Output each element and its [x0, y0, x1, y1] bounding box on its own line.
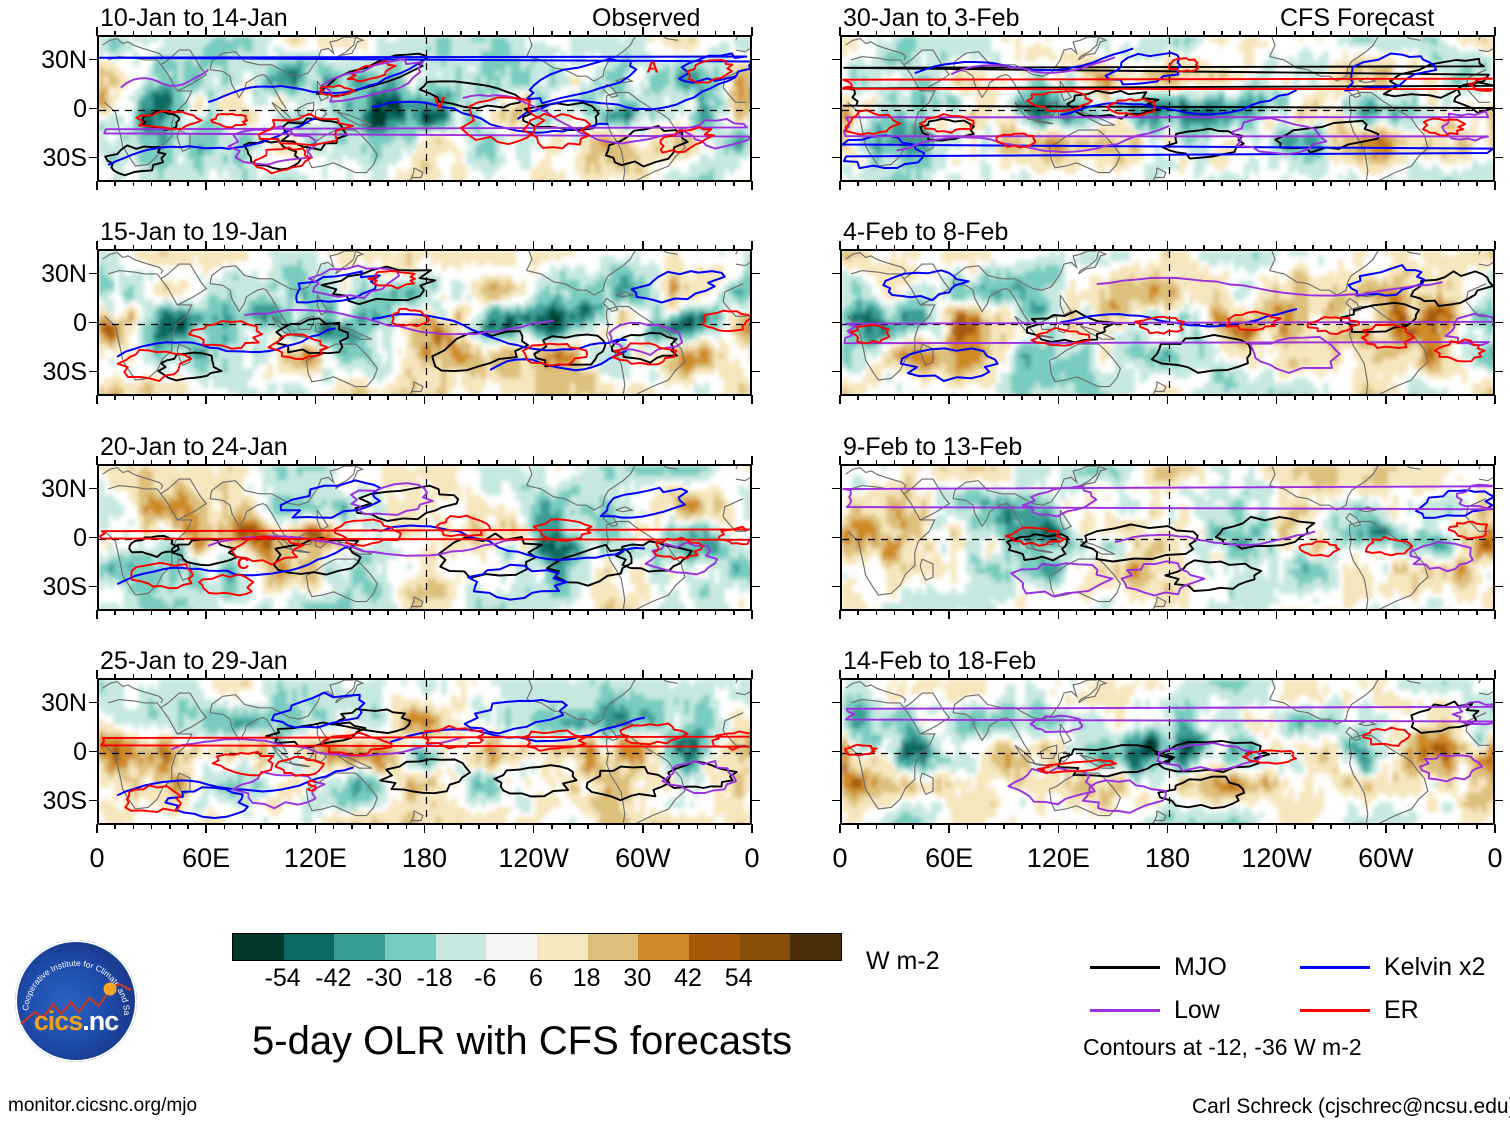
x-tick — [369, 395, 371, 400]
y-axis-label-0: 0 — [1, 97, 87, 122]
x-tick — [839, 181, 841, 190]
x-tick — [369, 674, 371, 679]
x-tick — [1021, 674, 1023, 679]
x-tick — [839, 241, 841, 250]
x-tick — [1130, 31, 1132, 36]
x-tick — [114, 245, 116, 250]
x-tick — [839, 670, 841, 679]
map-panel-5[interactable] — [840, 464, 1495, 611]
x-tick — [1294, 245, 1296, 250]
x-tick — [260, 824, 262, 829]
logo-wordmark-nc: .nc — [82, 1006, 118, 1036]
x-tick — [1440, 31, 1442, 36]
x-tick — [587, 245, 589, 250]
x-tick — [733, 181, 735, 186]
x-tick — [1094, 824, 1096, 829]
x-tick — [406, 674, 408, 679]
x-tick — [876, 245, 878, 250]
x-tick — [587, 181, 589, 186]
x-tick — [1130, 245, 1132, 250]
x-tick — [1058, 181, 1060, 190]
x-tick — [876, 460, 878, 465]
x-tick — [606, 31, 608, 36]
x-tick — [296, 674, 298, 679]
x-tick — [1476, 31, 1478, 36]
x-tick — [857, 824, 859, 829]
map-panel-0[interactable]: AV — [97, 35, 752, 182]
x-tick — [1258, 395, 1260, 400]
x-tick — [224, 824, 226, 829]
x-tick — [1149, 181, 1151, 186]
x-tick — [406, 395, 408, 400]
x-tick — [1185, 674, 1187, 679]
x-tick — [1239, 610, 1241, 615]
x-tick — [1021, 31, 1023, 36]
y-tick — [1494, 371, 1503, 373]
author-credit: Carl Schreck (cjschrec@ncsu.edu) — [1192, 1096, 1510, 1117]
x-tick — [751, 241, 753, 250]
x-axis-label-0-0: 0 — [52, 845, 142, 872]
x-tick — [1203, 31, 1205, 36]
x-tick — [660, 460, 662, 465]
x-tick — [187, 245, 189, 250]
x-tick — [624, 460, 626, 465]
colorbar-swatch-4 — [436, 934, 487, 960]
x-tick — [406, 31, 408, 36]
x-tick — [606, 181, 608, 186]
x-tick — [533, 181, 535, 190]
x-tick — [260, 674, 262, 679]
x-tick — [224, 31, 226, 36]
x-tick — [1421, 824, 1423, 829]
colorbar-swatch-5 — [486, 934, 537, 960]
panel-title-7: 14-Feb to 18-Feb — [843, 649, 1036, 674]
wave-marker-V: V — [434, 93, 446, 112]
y-tick — [751, 800, 760, 802]
x-tick — [1130, 674, 1132, 679]
y-tick — [89, 59, 98, 61]
x-tick — [460, 674, 462, 679]
x-tick — [333, 31, 335, 36]
x-tick — [315, 670, 317, 679]
x-tick — [1039, 824, 1041, 829]
x-tick — [333, 674, 335, 679]
x-tick — [1112, 674, 1114, 679]
x-tick — [224, 674, 226, 679]
x-tick — [660, 181, 662, 186]
map-panel-3[interactable] — [840, 249, 1495, 396]
x-tick — [1312, 395, 1314, 400]
x-tick — [1058, 456, 1060, 465]
wave-marker-S: S — [306, 777, 317, 796]
x-tick — [1476, 460, 1478, 465]
x-tick — [242, 181, 244, 186]
x-axis-label-1-4: 120W — [1232, 845, 1322, 872]
x-tick — [751, 610, 753, 619]
x-tick — [224, 181, 226, 186]
x-tick — [930, 460, 932, 465]
x-tick — [478, 674, 480, 679]
x-tick — [624, 824, 626, 829]
x-tick — [551, 460, 553, 465]
x-tick — [533, 610, 535, 619]
x-tick — [387, 31, 389, 36]
x-tick — [387, 460, 389, 465]
x-tick — [624, 674, 626, 679]
x-tick — [1294, 31, 1296, 36]
x-tick — [1367, 395, 1369, 400]
x-tick — [133, 674, 135, 679]
x-tick — [1076, 181, 1078, 186]
x-tick — [1039, 674, 1041, 679]
x-tick — [351, 824, 353, 829]
x-tick — [1039, 610, 1041, 615]
x-tick — [424, 241, 426, 250]
x-tick — [424, 456, 426, 465]
x-tick — [1440, 395, 1442, 400]
colorbar-swatch-9 — [689, 934, 740, 960]
x-tick — [424, 824, 426, 833]
x-tick — [1239, 245, 1241, 250]
colorbar-swatch-6 — [537, 934, 588, 960]
x-tick — [333, 460, 335, 465]
x-tick — [1476, 610, 1478, 615]
column-header-1: CFS Forecast — [1280, 6, 1434, 31]
x-tick — [1403, 395, 1405, 400]
x-tick — [1130, 395, 1132, 400]
x-tick — [606, 460, 608, 465]
x-tick — [1130, 610, 1132, 615]
colorbar-swatch-11 — [790, 934, 841, 960]
y-tick — [89, 157, 98, 159]
x-tick — [948, 456, 950, 465]
x-tick — [1367, 245, 1369, 250]
x-tick — [224, 610, 226, 615]
x-tick — [1094, 674, 1096, 679]
x-tick — [1112, 181, 1114, 186]
x-tick — [660, 245, 662, 250]
x-tick — [569, 460, 571, 465]
x-tick — [930, 245, 932, 250]
x-tick — [333, 395, 335, 400]
x-tick — [569, 181, 571, 186]
panel-title-5: 9-Feb to 13-Feb — [843, 435, 1022, 460]
x-tick — [1003, 610, 1005, 615]
y-axis-label-30S: 30S — [1, 789, 87, 814]
x-tick — [387, 395, 389, 400]
x-tick — [1221, 460, 1223, 465]
x-tick — [96, 27, 98, 36]
x-tick — [606, 824, 608, 829]
x-tick — [369, 245, 371, 250]
x-tick — [1058, 824, 1060, 833]
x-tick — [678, 674, 680, 679]
x-tick — [697, 181, 699, 186]
x-tick — [278, 460, 280, 465]
x-tick — [351, 181, 353, 186]
x-tick — [1221, 610, 1223, 615]
x-tick — [1440, 610, 1442, 615]
x-tick — [260, 181, 262, 186]
map-panel-4[interactable]: C — [97, 464, 752, 611]
x-tick — [1058, 27, 1060, 36]
x-tick — [1149, 395, 1151, 400]
x-tick — [151, 31, 153, 36]
x-tick — [242, 674, 244, 679]
legend-label: Low — [1174, 998, 1220, 1023]
x-tick — [985, 610, 987, 615]
x-tick — [894, 824, 896, 829]
x-tick — [894, 674, 896, 679]
x-tick — [387, 674, 389, 679]
x-tick — [1403, 674, 1405, 679]
x-axis-label-1-0: 0 — [795, 845, 885, 872]
x-tick — [912, 460, 914, 465]
y-tick — [832, 371, 841, 373]
x-tick — [857, 395, 859, 400]
x-tick — [478, 395, 480, 400]
x-tick — [478, 245, 480, 250]
x-tick — [1239, 31, 1241, 36]
x-tick — [606, 395, 608, 400]
x-tick — [114, 181, 116, 186]
y-tick — [1494, 751, 1503, 753]
x-tick — [1203, 674, 1205, 679]
x-tick — [242, 245, 244, 250]
x-tick — [114, 674, 116, 679]
figure-main-title: 5-day OLR with CFS forecasts — [252, 1021, 792, 1061]
x-tick — [967, 674, 969, 679]
x-tick — [315, 181, 317, 190]
x-tick — [205, 670, 207, 679]
x-tick — [1421, 31, 1423, 36]
x-tick — [1312, 674, 1314, 679]
x-tick — [642, 670, 644, 679]
x-tick — [587, 460, 589, 465]
y-tick — [832, 157, 841, 159]
x-tick — [1094, 610, 1096, 615]
x-tick — [587, 824, 589, 829]
x-tick — [1349, 31, 1351, 36]
x-tick — [715, 610, 717, 615]
y-tick — [751, 322, 760, 324]
x-tick — [1167, 670, 1169, 679]
x-tick — [1003, 181, 1005, 186]
x-tick — [967, 460, 969, 465]
x-tick — [1330, 31, 1332, 36]
x-tick — [857, 610, 859, 615]
x-tick — [715, 181, 717, 186]
panel-title-2: 15-Jan to 19-Jan — [100, 220, 288, 245]
x-tick — [857, 674, 859, 679]
x-tick — [496, 460, 498, 465]
x-tick — [151, 181, 153, 186]
x-tick — [1276, 181, 1278, 190]
x-tick — [278, 395, 280, 400]
x-tick — [296, 460, 298, 465]
x-tick — [876, 824, 878, 829]
x-tick — [1112, 824, 1114, 829]
y-tick — [751, 537, 760, 539]
x-tick — [1494, 670, 1496, 679]
x-tick — [551, 245, 553, 250]
x-tick — [278, 610, 280, 615]
y-tick — [89, 273, 98, 275]
panel-title-1: 30-Jan to 3-Feb — [843, 6, 1020, 31]
legend-item-low: Low — [1090, 998, 1220, 1023]
x-axis-label-0-5: 60W — [598, 845, 688, 872]
x-tick — [96, 824, 98, 833]
x-tick — [678, 181, 680, 186]
legend-label: Kelvin x2 — [1384, 955, 1485, 980]
x-tick — [1149, 610, 1151, 615]
x-tick — [876, 395, 878, 400]
x-tick — [387, 245, 389, 250]
x-tick — [642, 456, 644, 465]
x-tick — [948, 181, 950, 190]
x-tick — [406, 610, 408, 615]
x-tick — [551, 395, 553, 400]
colorbar-swatch-0 — [233, 934, 284, 960]
x-tick — [1367, 674, 1369, 679]
x-tick — [406, 824, 408, 829]
cics-nc-logo: Cooperative Institute for Climate and Sa… — [15, 940, 137, 1062]
x-axis-label-1-5: 60W — [1341, 845, 1431, 872]
x-tick — [114, 460, 116, 465]
x-tick — [1239, 181, 1241, 186]
x-tick — [1185, 395, 1187, 400]
logo-wordmark-cics: cics — [34, 1006, 83, 1036]
x-tick — [260, 31, 262, 36]
x-tick — [406, 181, 408, 186]
x-tick — [551, 824, 553, 829]
x-tick — [1221, 245, 1223, 250]
x-tick — [839, 824, 841, 833]
x-tick — [351, 610, 353, 615]
x-tick — [1276, 824, 1278, 833]
x-tick — [697, 245, 699, 250]
x-tick — [1385, 181, 1387, 190]
x-tick — [1221, 181, 1223, 186]
x-tick — [1458, 245, 1460, 250]
x-tick — [515, 31, 517, 36]
x-tick — [948, 610, 950, 619]
x-tick — [569, 31, 571, 36]
colorbar-swatch-10 — [740, 934, 791, 960]
x-tick — [948, 824, 950, 833]
x-tick — [715, 31, 717, 36]
x-tick — [1458, 395, 1460, 400]
x-tick — [1385, 456, 1387, 465]
x-tick — [733, 824, 735, 829]
x-tick — [424, 670, 426, 679]
x-tick — [442, 181, 444, 186]
x-tick — [260, 460, 262, 465]
x-tick — [478, 610, 480, 615]
x-tick — [1403, 245, 1405, 250]
x-tick — [133, 395, 135, 400]
y-tick — [832, 488, 841, 490]
x-tick — [515, 674, 517, 679]
x-tick — [242, 31, 244, 36]
x-tick — [551, 31, 553, 36]
map-panel-1[interactable] — [840, 35, 1495, 182]
x-tick — [967, 181, 969, 186]
x-tick — [551, 610, 553, 615]
x-tick — [1349, 674, 1351, 679]
x-tick — [169, 245, 171, 250]
x-tick — [424, 181, 426, 190]
column-header-0: Observed — [592, 6, 700, 31]
y-tick — [89, 800, 98, 802]
legend-item-mjo: MJO — [1090, 955, 1227, 980]
x-tick — [1349, 245, 1351, 250]
x-tick — [839, 395, 841, 404]
x-tick — [478, 460, 480, 465]
x-tick — [406, 245, 408, 250]
y-tick — [832, 586, 841, 588]
x-tick — [1039, 245, 1041, 250]
x-tick — [1385, 395, 1387, 404]
map-panel-2[interactable] — [97, 249, 752, 396]
x-tick — [1094, 460, 1096, 465]
y-tick — [751, 273, 760, 275]
x-tick — [442, 460, 444, 465]
x-tick — [1203, 395, 1205, 400]
y-tick — [89, 371, 98, 373]
x-tick — [642, 27, 644, 36]
y-tick — [832, 702, 841, 704]
y-axis-label-30S: 30S — [1, 575, 87, 600]
x-tick — [1403, 31, 1405, 36]
x-tick — [587, 31, 589, 36]
x-tick — [205, 456, 207, 465]
x-tick — [1094, 181, 1096, 186]
x-tick — [242, 460, 244, 465]
x-tick — [1021, 824, 1023, 829]
x-tick — [169, 824, 171, 829]
x-tick — [1421, 460, 1423, 465]
x-tick — [205, 181, 207, 190]
x-tick — [96, 670, 98, 679]
x-tick — [515, 824, 517, 829]
x-tick — [1258, 610, 1260, 615]
x-tick — [1221, 824, 1223, 829]
x-tick — [1076, 824, 1078, 829]
x-tick — [151, 395, 153, 400]
x-tick — [678, 460, 680, 465]
x-tick — [442, 245, 444, 250]
x-tick — [930, 610, 932, 615]
x-tick — [515, 181, 517, 186]
y-tick — [832, 273, 841, 275]
y-tick — [832, 537, 841, 539]
x-tick — [1167, 824, 1169, 833]
map-panel-7[interactable] — [840, 678, 1495, 825]
x-tick — [569, 610, 571, 615]
x-tick — [733, 395, 735, 400]
x-tick — [1349, 181, 1351, 186]
map-panel-6[interactable]: S — [97, 678, 752, 825]
x-tick — [442, 31, 444, 36]
x-tick — [912, 610, 914, 615]
x-tick — [1239, 824, 1241, 829]
x-tick — [151, 824, 153, 829]
x-tick — [1476, 395, 1478, 400]
x-tick — [496, 181, 498, 186]
x-tick — [133, 181, 135, 186]
x-tick — [205, 395, 207, 404]
